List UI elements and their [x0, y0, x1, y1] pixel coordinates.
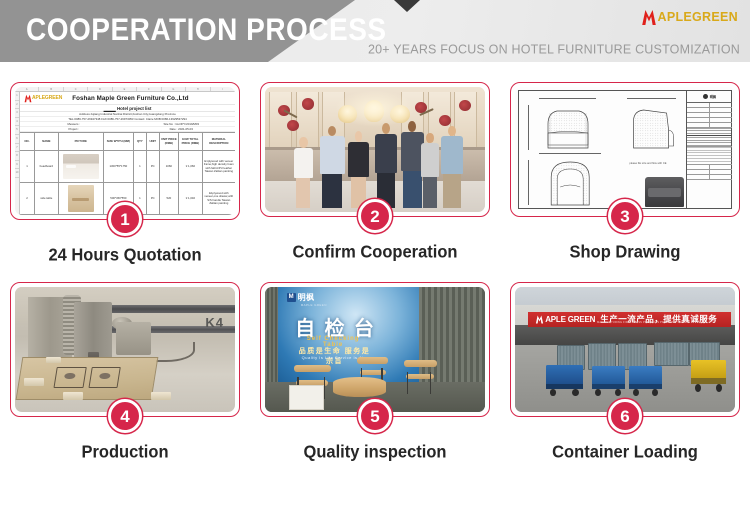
person — [318, 126, 347, 209]
step-caption-6: Container Loading — [552, 442, 698, 462]
quotation-date: Date : 2021-05-03 — [128, 127, 236, 131]
person — [373, 123, 399, 208]
drawing-note: please file size and flow with CE — [629, 162, 677, 166]
headboard-photo — [63, 154, 99, 179]
quotation-company-name: Foshan Maple Green Furniture Co.,Ltd — [72, 95, 188, 102]
step-caption-2: Confirm Cooperation — [293, 242, 458, 262]
quotation-logo-text: APLEGREEN — [32, 95, 62, 101]
col-letter: C — [64, 87, 88, 91]
process-step-2: 2 Confirm Cooperation — [250, 62, 500, 262]
dimension-line — [539, 98, 596, 99]
row-number: 1 — [15, 92, 19, 101]
quotation-project: Project : — [20, 127, 128, 131]
cell-unit: PC — [147, 183, 160, 214]
step-badge-6: 6 — [608, 399, 642, 433]
quotation-logo: APLEGREEN — [24, 94, 62, 103]
cell-total-price: ¥ 1,060 — [179, 151, 203, 182]
step-card-1[interactable]: A B C D E F G H I 1 2 3 — [10, 82, 240, 220]
cell-size: 1300*55*1750 — [104, 151, 134, 182]
quotation-table-header: NO. NAME PICTURE SIZE W*D*H (MM) QTY UNI… — [20, 132, 235, 151]
row-number: 4 — [15, 118, 19, 127]
banner-text-en: APLE GREEN — [545, 316, 595, 324]
process-step-3: please file size and flow with CE 明枫 — [500, 62, 750, 262]
cell-qty: 1 — [134, 151, 147, 182]
quotation-site-no: Site No : GLOPY/2019/M03 — [128, 122, 236, 126]
machine-label: K4 — [205, 315, 224, 330]
blue-truck — [629, 366, 662, 397]
step-badge-5: 5 — [358, 399, 392, 433]
step-card-4[interactable]: K4 4 — [10, 282, 240, 417]
table-row: 1 headboard 1300*55*1750 1 PC 1060 ¥ 1,0… — [20, 151, 235, 183]
container-loading-yard: APLE GREEN 生产一流产品，提供真诚服务 MANUFACTURING F… — [515, 287, 735, 412]
round-table — [333, 377, 386, 397]
cell-picture — [59, 183, 104, 214]
dimension-line — [627, 98, 675, 99]
group-photo-lobby — [265, 87, 485, 212]
col-letter: A — [15, 87, 39, 91]
th-total-price: EXW TOTAL PRICE (RMB) — [179, 133, 203, 150]
brand-logo: APLEGREEN — [641, 8, 739, 26]
chair-render-thumbnail — [645, 177, 685, 207]
row-number: 2 — [15, 101, 19, 110]
page-title: COOPERATION PROCESS — [26, 12, 387, 48]
side-table-photo — [68, 185, 94, 212]
title-block-row — [687, 175, 732, 180]
step-badge-1: 1 — [108, 202, 142, 236]
cell-unit-price: 1060 — [160, 151, 179, 182]
th-unit: UNIT — [147, 133, 160, 150]
step-caption-3: Shop Drawing — [570, 242, 681, 262]
cell-picture — [59, 151, 104, 182]
title-block-notes — [687, 147, 732, 165]
step-badge-3: 3 — [608, 199, 642, 233]
quotation-messers: Messers : — [20, 122, 128, 126]
wall-flower-decor — [439, 115, 451, 126]
col-letter: H — [186, 87, 210, 91]
process-step-6: APLE GREEN 生产一流产品，提供真诚服务 MANUFACTURING F… — [500, 262, 750, 462]
row-number: 8 — [15, 152, 19, 161]
quotation-subtitle-blank: _____ — [104, 106, 116, 111]
panel-clamp — [151, 392, 171, 400]
row-number: 3 — [15, 109, 19, 118]
quotation-subtitle-text: Hotel project list — [117, 106, 151, 111]
company-stamp-icon — [703, 94, 708, 99]
process-step-1: A B C D E F G H I 1 2 3 — [0, 62, 250, 262]
row-number: 9 — [15, 161, 19, 170]
row-number: 5 — [15, 126, 19, 135]
step-image-1: A B C D E F G H I 1 2 3 — [15, 87, 235, 215]
drawing-title-block: 明枫 — [686, 90, 732, 209]
step-badge-2: 2 — [358, 199, 392, 233]
th-picture: PICTURE — [59, 133, 104, 150]
step-card-3[interactable]: please file size and flow with CE 明枫 — [510, 82, 740, 217]
step-badge-4: 4 — [108, 399, 142, 433]
th-name: NAME — [35, 133, 59, 150]
cell-name: headboard — [35, 151, 59, 182]
banner-logo: M 明枫 — [287, 292, 315, 303]
step-card-6[interactable]: APLE GREEN 生产一流产品，提供真诚服务 MANUFACTURING F… — [510, 282, 740, 417]
panel-clamp — [24, 378, 44, 386]
panel-clamp — [63, 392, 83, 400]
cell-unit: PC — [147, 151, 160, 182]
header-tagline: 20+ YEARS FOCUS ON HOTEL FURNITURE CUSTO… — [368, 42, 740, 57]
dimension-line — [528, 160, 529, 205]
title-block-barcode — [687, 128, 732, 147]
step-image-3: please file size and flow with CE 明枫 — [515, 87, 735, 212]
row-number: 6 — [15, 135, 19, 144]
cell-total-price: ¥ 1,040 — [179, 183, 203, 214]
cnc-machine-production: K4 — [15, 287, 235, 412]
step-caption-4: Production — [81, 442, 168, 462]
brand-logo-text: APLEGREEN — [658, 9, 739, 26]
header-notch-triangle-icon — [394, 0, 420, 12]
col-letter: B — [39, 87, 63, 91]
sample-board — [289, 385, 324, 410]
th-qty: QTY — [134, 133, 147, 150]
dimension-line — [528, 105, 529, 150]
blue-truck — [546, 365, 583, 398]
cell-description: E1plywood with veneer,one drawer,with S/… — [203, 183, 235, 214]
step-card-2[interactable]: 2 — [260, 82, 490, 217]
quotation-subtitle: _____ Hotel project list — [20, 105, 235, 112]
row-number: 7 — [15, 144, 19, 153]
title-block-logo: 明枫 — [687, 90, 732, 103]
banner-text-sub: MANUFACTURING FIRST-CLASS PRODUCTS PROVI… — [597, 321, 690, 324]
process-step-4: K4 4 Production — [0, 262, 250, 462]
title-block-company: 明枫 — [710, 94, 716, 99]
yellow-truck — [691, 360, 726, 394]
cell-name: side table — [35, 183, 59, 214]
quotation-title-row: APLEGREEN Foshan Maple Green Furniture C… — [20, 92, 235, 105]
maple-m-icon — [641, 9, 657, 26]
banner-brand-en: MAPLE GREEN — [301, 303, 327, 307]
process-step-5: M 明枫 MAPLE GREEN 自 检 台 Self Checking Tab… — [250, 262, 500, 462]
panel-clamp — [46, 357, 61, 363]
wall-flower-decor — [302, 98, 314, 109]
th-size: SIZE W*D*H (MM) — [104, 133, 134, 150]
maple-m-icon — [534, 315, 545, 324]
row-number: 10 — [15, 169, 19, 178]
wall-flower-decor — [287, 120, 299, 131]
person — [346, 131, 370, 209]
step-image-6: APLE GREEN 生产一流产品，提供真诚服务 MANUFACTURING F… — [515, 287, 735, 412]
maple-m-icon — [24, 94, 32, 103]
cell-no: 1 — [20, 151, 35, 182]
col-letter: G — [162, 87, 186, 91]
step-image-2 — [265, 87, 485, 212]
quality-inspection-area: M 明枫 MAPLE GREEN 自 检 台 Self Checking Tab… — [265, 287, 485, 412]
th-unit-price: UNIT PRICE (RMB) — [160, 133, 179, 150]
person — [439, 126, 465, 209]
col-letter: F — [137, 87, 161, 91]
step-caption-5: Quality inspection — [303, 442, 446, 462]
quotation-spreadsheet: A B C D E F G H I 1 2 3 — [15, 87, 235, 215]
step-card-5[interactable]: M 明枫 MAPLE GREEN 自 检 台 Self Checking Tab… — [260, 282, 490, 417]
top-view — [535, 157, 605, 207]
maple-green-icon: M — [287, 293, 296, 302]
wall-panel — [269, 92, 292, 147]
dimension-line — [539, 153, 601, 154]
warehouse-banner: APLE GREEN 生产一流产品，提供真诚服务 MANUFACTURING F… — [528, 312, 730, 327]
step-image-4: K4 — [15, 287, 235, 412]
shipping-container — [654, 342, 689, 366]
banner-brand-cn: 明枫 — [298, 292, 315, 303]
cad-shop-drawing: please file size and flow with CE 明枫 — [515, 87, 735, 212]
linear-rail — [99, 305, 235, 314]
col-letter: D — [88, 87, 112, 91]
wall-flower-decor — [459, 100, 471, 111]
cell-no: 2 — [20, 183, 35, 214]
cell-description: E1plywood with veneer frame,high density… — [203, 151, 235, 182]
process-steps-grid: A B C D E F G H I 1 2 3 — [0, 62, 750, 462]
col-letter: I — [211, 87, 235, 91]
blue-truck — [592, 366, 625, 397]
person — [291, 137, 315, 208]
page-header: COOPERATION PROCESS APLEGREEN 20+ YEARS … — [0, 0, 750, 62]
side-view — [623, 102, 680, 152]
person — [419, 133, 441, 208]
cell-unit-price: 520 — [160, 183, 179, 214]
step-image-5: M 明枫 MAPLE GREEN 自 检 台 Self Checking Tab… — [265, 287, 485, 412]
th-no: NO. — [20, 133, 35, 150]
front-view — [535, 102, 601, 152]
inspection-chair — [404, 360, 437, 395]
th-description: MATERIAL DESCRIPTION — [203, 133, 235, 150]
col-letter: E — [113, 87, 137, 91]
